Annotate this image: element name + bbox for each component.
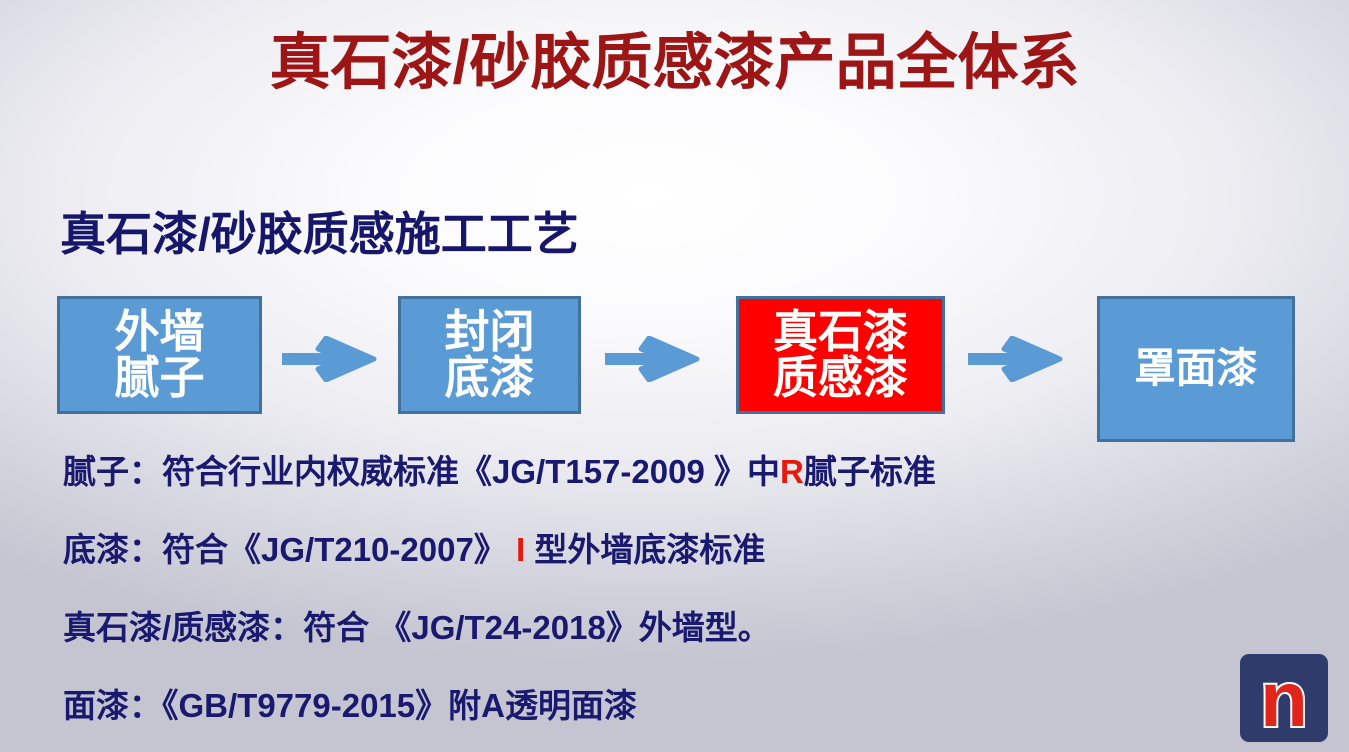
arrow-right-icon: [968, 336, 1064, 382]
spec-line-primer: 底漆：符合《JG/T210-2007》 I 型外墙底漆标准: [63, 533, 1323, 566]
flow-step-label-line: 封闭: [444, 309, 534, 355]
spec-line-stone-paint: 真石漆/质感漆：符合 《JG/T24-2018》外墙型。: [63, 611, 1323, 644]
flow-step-topcoat[interactable]: 罩面漆: [1097, 296, 1295, 442]
flow-step-label-line: 外墙: [114, 309, 204, 355]
spec-segment-highlight: I: [516, 531, 525, 568]
spec-segment-highlight: R: [780, 453, 804, 490]
page-title: 真石漆/砂胶质感漆产品全体系: [0, 28, 1349, 96]
svg-text:n: n: [1260, 655, 1308, 743]
spec-segment: 腻子标准: [804, 453, 936, 490]
spec-segment: 底漆：符合《JG/T210-2007》: [63, 531, 516, 568]
arrow-right-icon: [282, 336, 378, 382]
section-subtitle: 真石漆/砂胶质感施工工艺: [60, 198, 579, 264]
slide-canvas: 真石漆/砂胶质感漆产品全体系 真石漆/砂胶质感施工工艺 外墙 腻子 封闭 底漆 …: [0, 0, 1349, 752]
process-flow-diagram: 外墙 腻子 封闭 底漆 真石漆 质感漆: [0, 288, 1349, 443]
flow-step-label-line: 质感漆: [773, 355, 908, 401]
flow-step-exterior-wall-putty[interactable]: 外墙 腻子: [57, 296, 262, 414]
flow-step-label-line: 罩面漆: [1135, 348, 1258, 390]
spec-line-topcoat: 面漆：《GB/T9779-2015》附A透明面漆: [63, 689, 1323, 722]
spec-line-putty: 腻子：符合行业内权威标准《JG/T157-2009 》中R腻子标准: [63, 455, 1323, 488]
spec-segment: 面漆：《GB/T9779-2015》附A透明面漆: [63, 687, 637, 724]
flow-step-label-line: 真石漆: [773, 309, 908, 355]
flow-step-stone-texture-paint[interactable]: 真石漆 质感漆: [736, 296, 945, 414]
specification-list: 腻子：符合行业内权威标准《JG/T157-2009 》中R腻子标准 底漆：符合《…: [63, 455, 1323, 752]
spec-segment: 腻子：符合行业内权威标准《JG/T157-2009 》中: [63, 453, 780, 490]
flow-step-label-line: 腻子: [114, 355, 204, 401]
flow-step-sealing-primer[interactable]: 封闭 底漆: [398, 296, 581, 414]
arrow-right-icon: [605, 336, 701, 382]
nippon-n-logo: n: [1238, 652, 1330, 744]
spec-segment: 真石漆/质感漆：符合 《JG/T24-2018》外墙型。: [63, 609, 771, 646]
spec-segment: 型外墙底漆标准: [525, 531, 765, 568]
flow-step-label-line: 底漆: [444, 355, 534, 401]
